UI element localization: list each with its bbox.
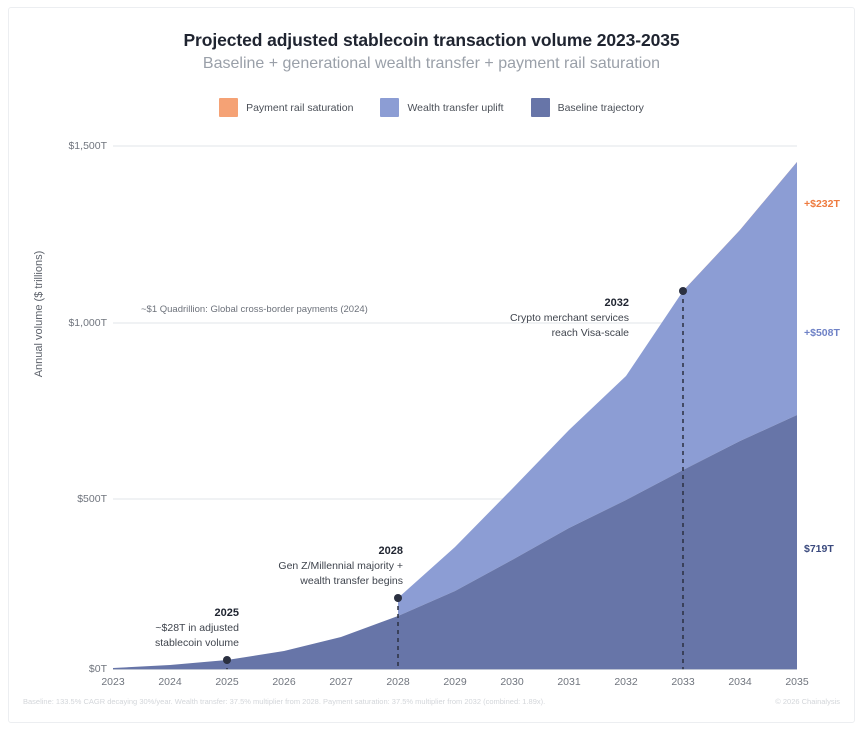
x-tick-label: 2030 bbox=[482, 676, 542, 688]
marker-dot-2025 bbox=[223, 656, 231, 664]
annotation-2028-line2: wealth transfer begins bbox=[300, 575, 403, 587]
area-series bbox=[113, 162, 797, 670]
annotation-2025-line2: stablecoin volume bbox=[155, 637, 239, 649]
legend-item-wealth-transfer-uplift[interactable]: Wealth transfer uplift bbox=[380, 98, 503, 117]
legend-item-baseline-trajectory[interactable]: Baseline trajectory bbox=[531, 98, 644, 117]
x-tick-label: 2027 bbox=[311, 676, 371, 688]
chart-footer: Baseline: 133.5% CAGR decaying 30%/year.… bbox=[9, 697, 854, 711]
x-tick-label: 2034 bbox=[710, 676, 770, 688]
x-tick-label: 2026 bbox=[254, 676, 314, 688]
annotation-2025-year: 2025 bbox=[41, 606, 239, 621]
chart-card: Projected adjusted stablecoin transactio… bbox=[8, 7, 855, 723]
x-tick-label: 2024 bbox=[140, 676, 200, 688]
annotation-quadrillion-note: ~$1 Quadrillion: Global cross-border pay… bbox=[141, 304, 368, 315]
footer-methodology-note: Baseline: 133.5% CAGR decaying 30%/year.… bbox=[23, 697, 545, 706]
chart-subtitle: Baseline + generational wealth transfer … bbox=[9, 55, 854, 73]
x-tick-label: 2028 bbox=[368, 676, 428, 688]
chart-svg bbox=[113, 138, 797, 670]
annotation-2032-line1: Crypto merchant services bbox=[510, 312, 629, 324]
y-tick-label: $0T bbox=[37, 663, 107, 675]
chart-title: Projected adjusted stablecoin transactio… bbox=[9, 30, 854, 51]
value-label-payment-rail-saturation: +$232T bbox=[804, 198, 840, 210]
annotation-2025-line1: ~$28T in adjusted bbox=[155, 622, 239, 634]
chart-plot-area bbox=[113, 138, 797, 670]
legend-label-baseline-trajectory: Baseline trajectory bbox=[558, 102, 644, 114]
legend-swatch-icon-wealth-transfer-uplift bbox=[380, 98, 399, 117]
annotation-2028: 2028 Gen Z/Millennial majority + wealth … bbox=[179, 544, 403, 589]
annotation-2032-line2: reach Visa-scale bbox=[552, 327, 629, 339]
legend-swatch-icon-baseline-trajectory bbox=[531, 98, 550, 117]
y-tick-label: $500T bbox=[37, 493, 107, 505]
legend-label-wealth-transfer-uplift: Wealth transfer uplift bbox=[407, 102, 503, 114]
x-tick-label: 2035 bbox=[767, 676, 827, 688]
footer-copyright: © 2026 Chainalysis bbox=[775, 697, 840, 706]
x-tick-label: 2023 bbox=[83, 676, 143, 688]
x-tick-label: 2031 bbox=[539, 676, 599, 688]
x-tick-label: 2032 bbox=[596, 676, 656, 688]
marker-dot-2028 bbox=[394, 594, 402, 602]
legend-item-payment-rail-saturation[interactable]: Payment rail saturation bbox=[219, 98, 353, 117]
y-tick-label: $1,000T bbox=[37, 317, 107, 329]
y-tick-label: $1,500T bbox=[37, 140, 107, 152]
value-label-baseline-trajectory: $719T bbox=[804, 543, 834, 555]
x-axis-tick-labels: 2023 2024 2025 2026 2027 2028 2029 2030 … bbox=[113, 676, 797, 696]
legend-swatch-icon-payment-rail-saturation bbox=[219, 98, 238, 117]
annotation-2028-line1: Gen Z/Millennial majority + bbox=[278, 560, 403, 572]
marker-dot-2032 bbox=[679, 287, 687, 295]
annotation-2032-year: 2032 bbox=[429, 296, 629, 311]
annotation-2032: 2032 Crypto merchant services reach Visa… bbox=[429, 296, 629, 341]
x-tick-label: 2033 bbox=[653, 676, 713, 688]
value-label-wealth-transfer-uplift: +$508T bbox=[804, 327, 840, 339]
x-tick-label: 2025 bbox=[197, 676, 257, 688]
legend-label-payment-rail-saturation: Payment rail saturation bbox=[246, 102, 353, 114]
annotation-2028-year: 2028 bbox=[179, 544, 403, 559]
x-tick-label: 2029 bbox=[425, 676, 485, 688]
chart-legend: Payment rail saturation Wealth transfer … bbox=[9, 98, 854, 117]
y-axis-tick-labels: $1,500T $1,000T $500T $0T bbox=[31, 138, 107, 670]
annotation-2025: 2025 ~$28T in adjusted stablecoin volume bbox=[41, 606, 239, 651]
